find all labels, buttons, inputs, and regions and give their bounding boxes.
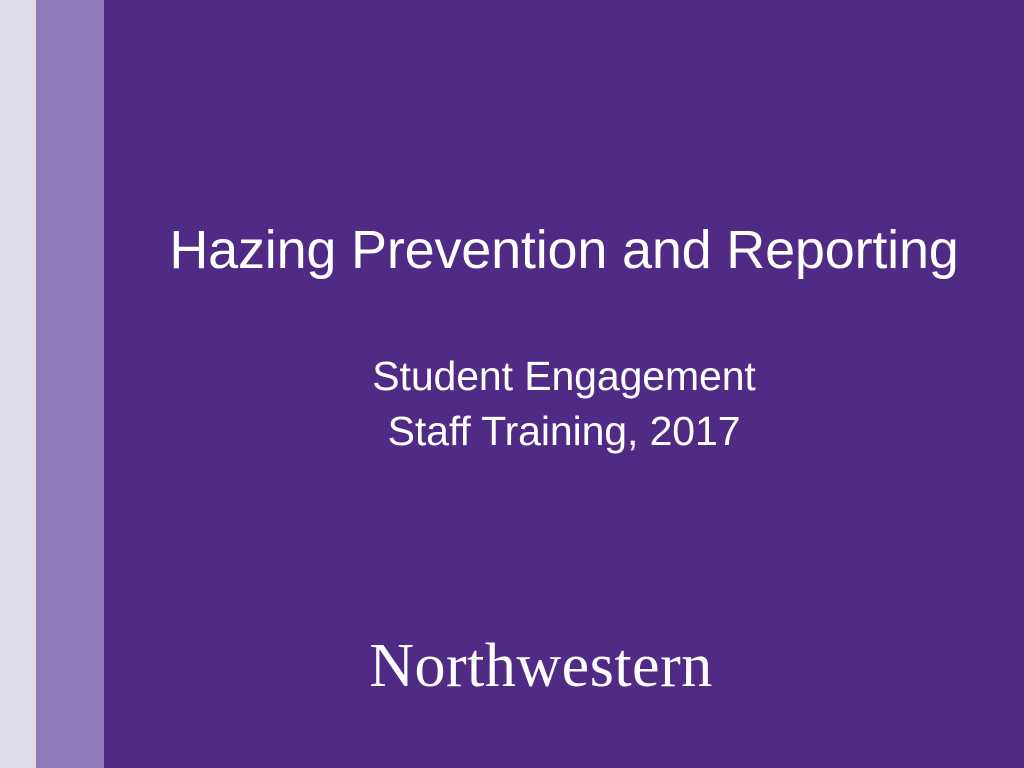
slide-content: Hazing Prevention and Reporting Student … [104,0,1024,768]
slide-title: Hazing Prevention and Reporting [104,219,1024,281]
presentation-slide: Hazing Prevention and Reporting Student … [0,0,1024,768]
northwestern-logo-wordmark: Northwestern [104,631,1024,701]
decorative-band-light [0,0,36,768]
decorative-band-medium [36,0,104,768]
slide-subtitle-line-1: Student Engagement [104,349,1024,404]
slide-subtitle: Student Engagement Staff Training, 2017 [104,349,1024,459]
slide-subtitle-line-2: Staff Training, 2017 [104,404,1024,459]
